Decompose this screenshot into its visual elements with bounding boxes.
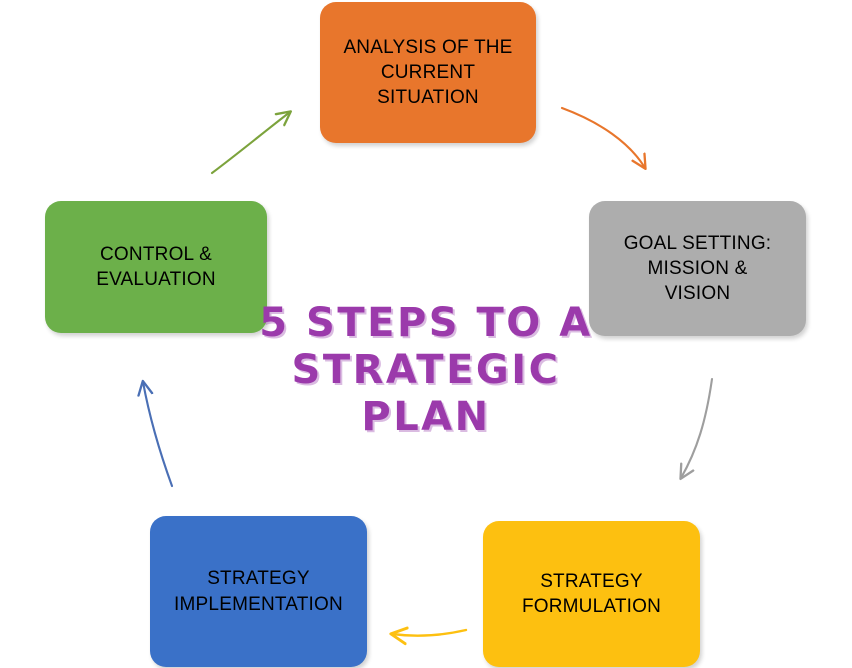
arrow-formulation-to-implementation: [392, 630, 466, 636]
arrow-goal-to-formulation: [681, 379, 712, 478]
arrow-control-to-analysis: [212, 112, 290, 173]
step-label-control: CONTROL & EVALUATION: [96, 242, 216, 293]
arrow-implementation-to-control: [143, 382, 172, 486]
step-box-analysis-of-the-current-situation[interactable]: ANALYSIS OF THE CURRENT SITUATION: [320, 2, 536, 143]
step-label-formulation: STRATEGY FORMULATION: [522, 569, 661, 620]
step-label-implementation: STRATEGY IMPLEMENTATION: [174, 566, 343, 617]
step-box-strategy-implementation[interactable]: STRATEGY IMPLEMENTATION: [150, 516, 367, 667]
diagram-title: 5 STEPS TO A STRATEGIC PLAN: [226, 300, 626, 440]
strategic-plan-cycle-diagram: ANALYSIS OF THE CURRENT SITUATION GOAL S…: [0, 0, 852, 668]
step-box-strategy-formulation[interactable]: STRATEGY FORMULATION: [483, 521, 700, 667]
step-label-goal: GOAL SETTING: MISSION & VISION: [624, 231, 772, 307]
arrow-analysis-to-goal: [562, 108, 645, 168]
step-label-analysis: ANALYSIS OF THE CURRENT SITUATION: [343, 35, 512, 111]
